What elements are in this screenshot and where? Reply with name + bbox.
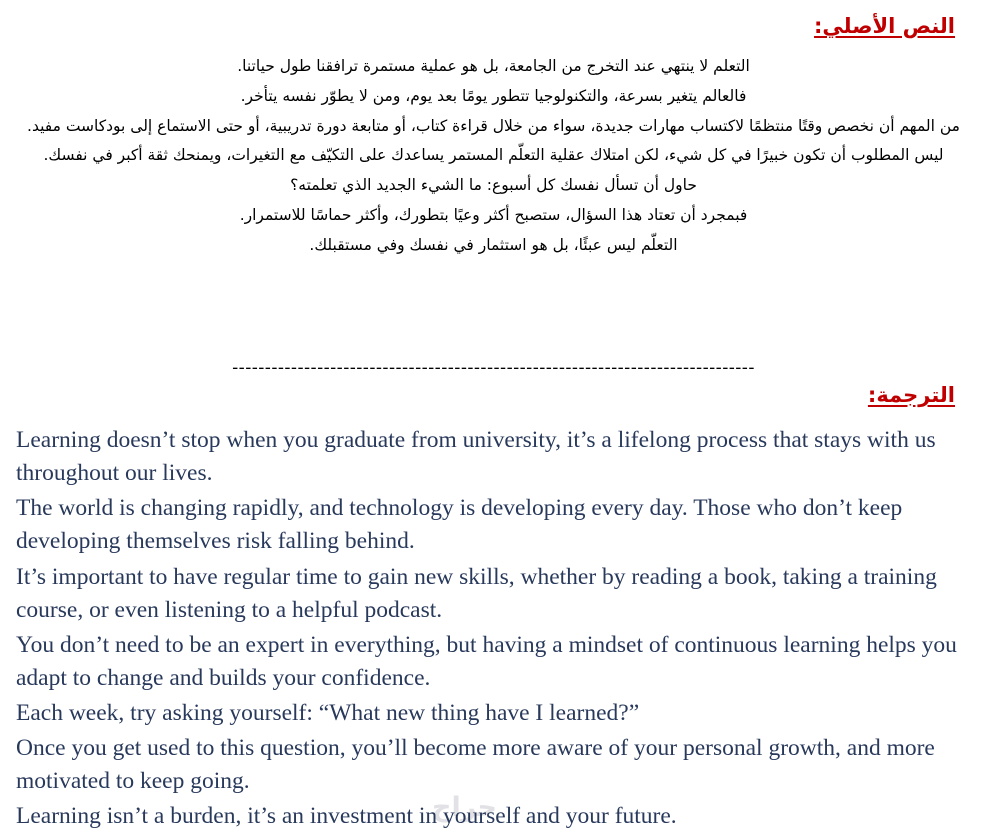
english-paragraph: Learning doesn’t stop when you graduate … [16,424,966,490]
document-page: النص الأصلي: التعلم لا ينتهي عند التخرج … [0,0,987,837]
arabic-line: ليس المطلوب أن تكون خبيرًا في كل شيء، لك… [8,141,979,171]
english-paragraph: It’s important to have regular time to g… [16,561,966,627]
original-text-heading: النص الأصلي: [555,14,955,39]
arabic-line: من المهم أن نخصص وقتًا منتظمًا لاكتساب م… [8,112,979,142]
arabic-line: فالعالم يتغير بسرعة، والتكنولوجيا تتطور … [8,82,979,112]
english-paragraph: Learning isn’t a burden, it’s an investm… [16,800,966,833]
arabic-line: التعلم لا ينتهي عند التخرج من الجامعة، ب… [8,52,979,82]
english-paragraph: Each week, try asking yourself: “What ne… [16,697,966,730]
english-paragraph: You don’t need to be an expert in everyt… [16,629,966,695]
english-paragraph: Once you get used to this question, you’… [16,732,966,798]
arabic-line: حاول أن تسأل نفسك كل أسبوع: ما الشيء الج… [8,171,979,201]
english-paragraph: The world is changing rapidly, and techn… [16,492,966,558]
arabic-line: التعلّم ليس عبئًا، بل هو استثمار في نفسك… [8,231,979,261]
dashed-separator: ----------------------------------------… [0,358,987,378]
arabic-line: فبمجرد أن تعتاد هذا السؤال، ستصبح أكثر و… [8,201,979,231]
translation-english-body: Learning doesn’t stop when you graduate … [16,424,966,836]
translation-heading: الترجمة: [555,383,955,408]
original-arabic-body: التعلم لا ينتهي عند التخرج من الجامعة، ب… [8,52,979,260]
